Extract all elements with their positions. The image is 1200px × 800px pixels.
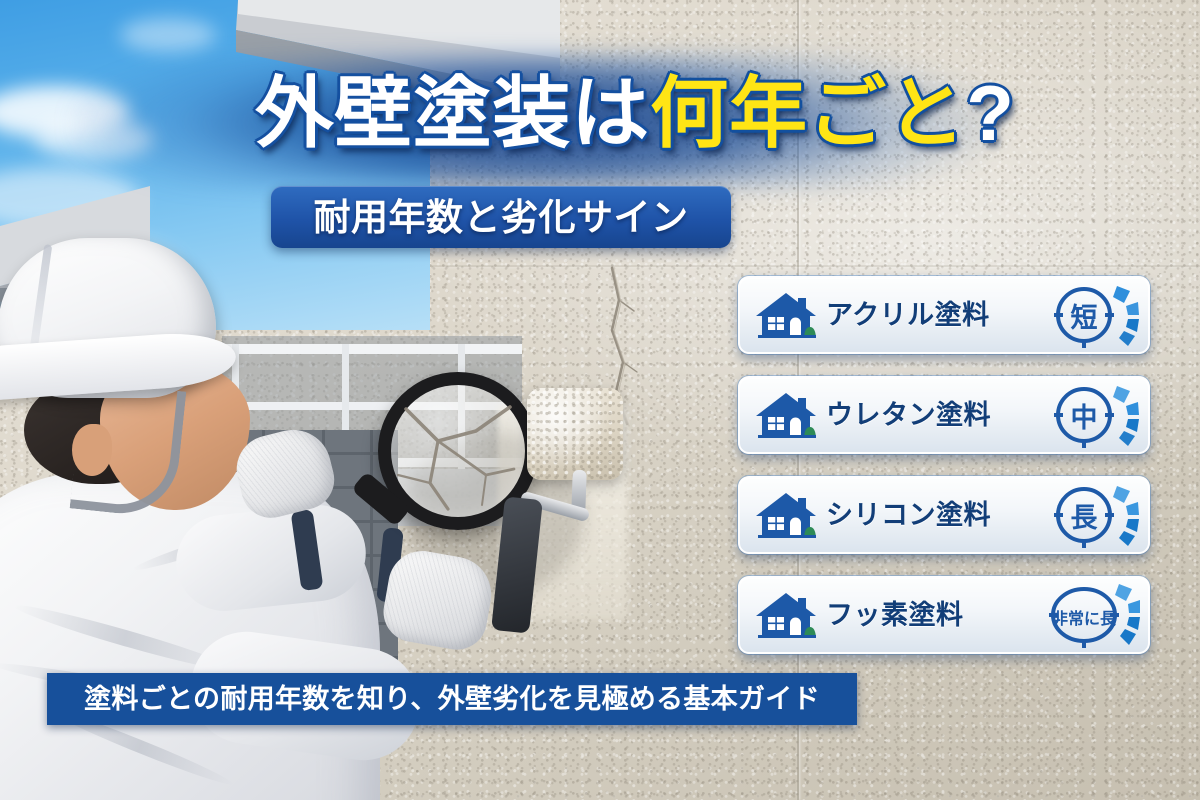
title-part-3: ?	[966, 69, 1015, 157]
title-part-2: 何年ごと	[650, 69, 966, 157]
subtitle-text: 耐用年数と劣化サイン	[314, 199, 689, 236]
page-title: 外壁塗装は何年ごと?	[0, 74, 1200, 152]
house-icon	[754, 590, 818, 640]
gauge-label: 短	[1071, 303, 1098, 333]
subtitle-badge: 耐用年数と劣化サイン	[271, 186, 731, 248]
paint-type-card[interactable]: ウレタン塗料 中	[738, 376, 1150, 454]
paint-type-label: シリコン塗料	[818, 502, 1044, 529]
paint-type-card[interactable]: アクリル塗料 短	[738, 276, 1150, 354]
house-icon	[754, 390, 818, 440]
magnified-crack-icon	[390, 383, 526, 517]
gauge-icon: 非常に長	[1044, 582, 1140, 648]
paint-type-label: アクリル塗料	[818, 302, 1044, 329]
gauge-label: 中	[1071, 403, 1098, 433]
gauge-icon: 短	[1044, 282, 1140, 348]
house-icon	[754, 490, 818, 540]
roller-nap	[527, 388, 623, 480]
paint-type-card[interactable]: シリコン塗料 長	[738, 476, 1150, 554]
bottom-banner: 塗料ごとの耐用年数を知り、外壁劣化を見極める基本ガイド	[47, 673, 857, 725]
paint-type-card-list: アクリル塗料 短	[738, 276, 1150, 654]
paint-type-label: ウレタン塗料	[818, 402, 1044, 429]
paint-type-card[interactable]: フッ素塗料 非常に長	[738, 576, 1150, 654]
gauge-icon: 中	[1044, 382, 1140, 448]
infographic-canvas: 外壁塗装は何年ごと? 耐用年数と劣化サイン アクリル塗料	[0, 0, 1200, 800]
banner-text: 塗料ごとの耐用年数を知り、外壁劣化を見極める基本ガイド	[84, 686, 820, 713]
house-icon	[754, 290, 818, 340]
gauge-icon: 長	[1044, 482, 1140, 548]
gauge-label: 非常に長	[1052, 609, 1117, 628]
paint-type-label: フッ素塗料	[818, 602, 1044, 629]
gauge-label: 長	[1071, 503, 1098, 533]
title-part-1: 外壁塗装は	[255, 69, 650, 157]
